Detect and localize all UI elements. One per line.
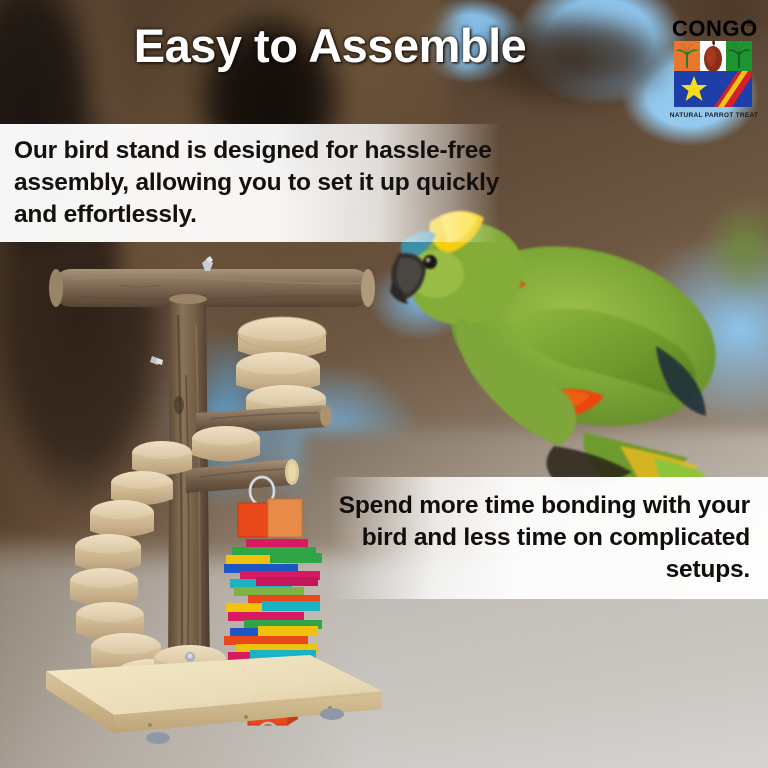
logo-tagline-text: NATURAL PARROT TREAT <box>670 112 759 119</box>
congo-logo: CONGO ® <box>666 14 762 122</box>
feature-panel-bottom: Spend more time bonding with your bird a… <box>330 477 768 599</box>
horizontal-t-perch <box>49 269 375 307</box>
ladder-step <box>90 500 154 537</box>
rubber-foot <box>146 732 170 744</box>
product-marketing-image: Easy to Assemble CONGO ® <box>0 0 768 768</box>
logo-registered-mark: ® <box>746 18 753 28</box>
ladder-step <box>111 471 173 505</box>
feature-panel-top: Our bird stand is designed for hassle-fr… <box>0 124 500 242</box>
ladder-step <box>132 441 192 475</box>
feature-text-top: Our bird stand is designed for hassle-fr… <box>0 135 500 231</box>
page-title: Easy to Assemble <box>0 18 660 73</box>
rubber-foot <box>320 708 344 720</box>
plywood-base <box>46 655 382 744</box>
logo-emblem <box>674 40 752 107</box>
assembly-screw-post <box>150 356 163 365</box>
ladder-step <box>75 534 141 572</box>
assembly-screw-top <box>202 256 213 271</box>
ladder-step <box>70 568 138 606</box>
disc-mid <box>192 426 260 462</box>
feature-text-bottom: Spend more time bonding with your bird a… <box>330 490 768 586</box>
logo-brand-text: CONGO <box>672 16 758 41</box>
